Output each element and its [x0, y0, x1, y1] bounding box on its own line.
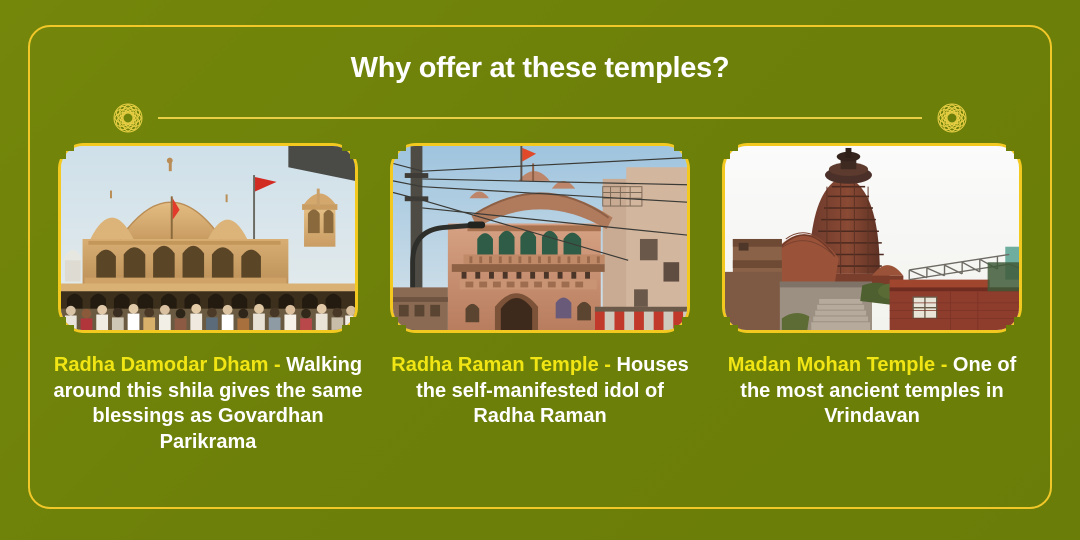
- temple-card[interactable]: Radha Damodar Dham - Walking around this…: [58, 143, 358, 483]
- temple-card-row: Radha Damodar Dham - Walking around this…: [58, 143, 1022, 483]
- temple-caption: Madan Mohan Temple - One of the most anc…: [712, 353, 1032, 430]
- temple-name: Radha Raman Temple -: [391, 354, 611, 376]
- temple-caption: Radha Raman Temple - Houses the self-man…: [390, 353, 690, 430]
- temple-name: Radha Damodar Dham -: [54, 354, 281, 376]
- divider-line: [158, 117, 922, 119]
- decorative-divider: [110, 100, 970, 136]
- radha-raman-temple-photo: [393, 146, 687, 330]
- rosette-ornament-icon: [110, 100, 146, 136]
- temple-caption: Radha Damodar Dham - Walking around this…: [43, 353, 373, 455]
- rosette-ornament-icon: [934, 100, 970, 136]
- photo-frame: [722, 143, 1022, 333]
- radha-damodar-dham-photo: [61, 146, 355, 330]
- page-title: Why offer at these temples?: [0, 52, 1080, 85]
- temple-name: Madan Mohan Temple -: [728, 354, 948, 376]
- temple-card[interactable]: Radha Raman Temple - Houses the self-man…: [390, 143, 690, 483]
- temple-card[interactable]: Madan Mohan Temple - One of the most anc…: [722, 143, 1022, 483]
- photo-frame: [390, 143, 690, 333]
- photo-frame: [58, 143, 358, 333]
- madan-mohan-temple-photo: [725, 146, 1019, 330]
